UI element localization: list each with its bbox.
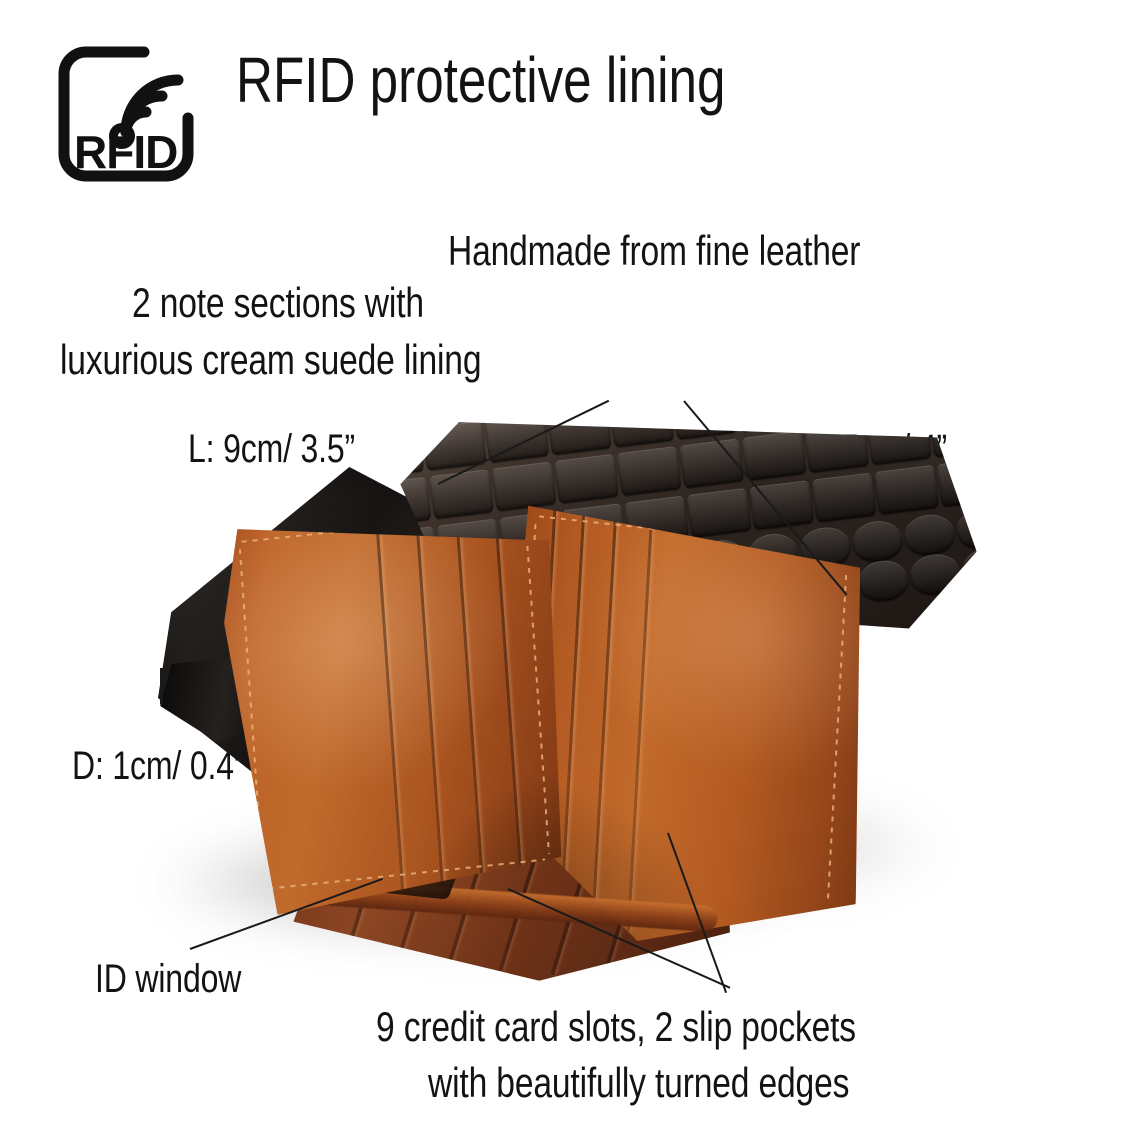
tan-wallet-left-panel: SageBrown FINE LEATHER: [217, 485, 573, 919]
callout-card-slots-line-2: with beautifully turned edges: [428, 1060, 955, 1105]
feature-handmade: Handmade from fine leather: [448, 228, 963, 273]
callout-card-slots-line-1: 9 credit card slots, 2 slip pockets: [376, 1004, 976, 1049]
rfid-icon: RFID: [56, 44, 204, 184]
leader-tick-depth: [160, 668, 163, 704]
product-photo: SageBrown FINE LEATHER: [118, 392, 1038, 972]
page-title-text: RFID protective lining: [236, 46, 725, 115]
page-title: RFID protective lining: [236, 46, 848, 115]
infographic-canvas: RFID RFID protective lining Handmade fro…: [0, 0, 1147, 1147]
feature-note-sections-line-1: 2 note sections with: [132, 280, 497, 325]
feature-note-sections-line-2: luxurious cream suede lining: [60, 337, 587, 382]
rfid-badge-label: RFID: [74, 126, 177, 178]
